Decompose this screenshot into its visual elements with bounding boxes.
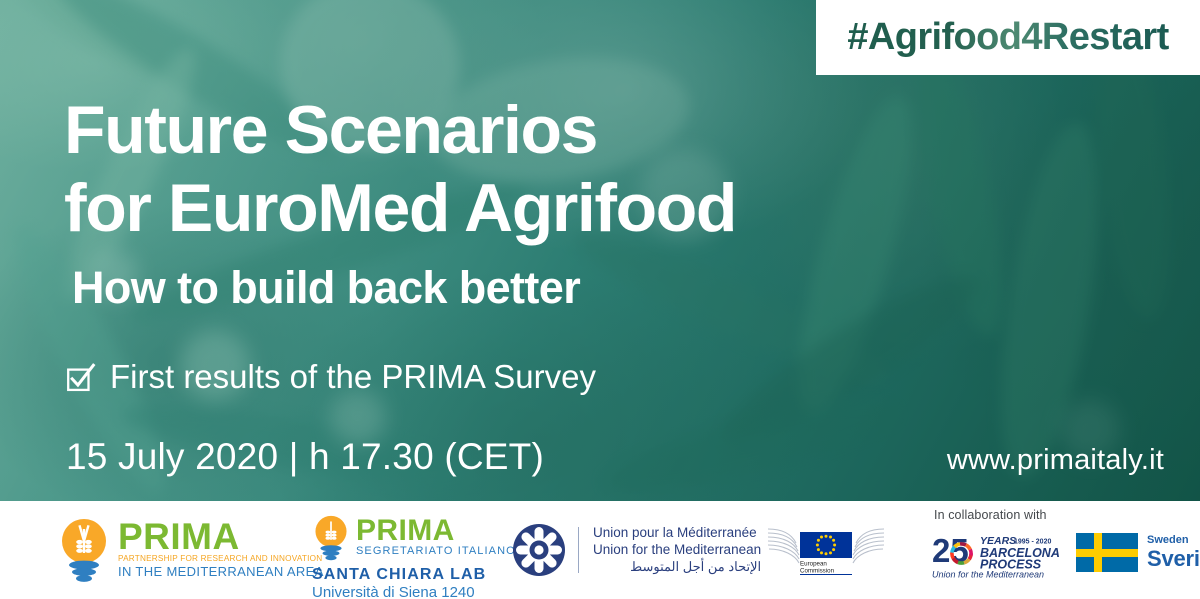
subtitle: How to build back better <box>72 264 1064 312</box>
title-line-1: Future Scenarios <box>64 96 1064 164</box>
prima-tagline: PARTNERSHIP FOR RESEARCH AND INNOVATION <box>118 554 324 564</box>
ufm-line-arabic: الإتحاد من أجل المتوسط <box>593 558 761 575</box>
ec-label-line1: European <box>800 561 827 568</box>
title-line-2: for EuroMed Agrifood <box>64 174 1064 242</box>
logo-union-for-mediterranean: Union pour la Méditerranée Union for the… <box>512 523 761 577</box>
ec-label-line2: Commission <box>800 568 835 575</box>
logo-european-commission: European Commission <box>766 523 886 575</box>
ufm-divider <box>578 527 579 573</box>
logo-prima: PRIMA PARTNERSHIP FOR RESEARCH AND INNOV… <box>58 515 324 583</box>
ufm-line-french: Union pour la Méditerranée <box>593 525 761 542</box>
hashtag-badge: #Agrifood4Restart <box>816 0 1200 75</box>
eu-flag-icon: European Commission <box>766 523 886 575</box>
ufm-emblem-icon <box>512 523 566 577</box>
logo-prima-secretariat: PRIMA SEGRETARIATO ITALIANO SANTA CHIARA… <box>312 513 516 599</box>
collaboration-label: In collaboration with <box>934 508 1047 522</box>
survey-text: First results of the PRIMA Survey <box>110 358 596 396</box>
prima-wordmark: PRIMA <box>118 520 324 554</box>
barcelona-process-icon: 25 YEARS 1995 - 2020 BARCELONA PROCESS <box>932 531 1060 579</box>
logo-sweden: Sweden Sverige <box>1076 533 1200 572</box>
page-title: Future Scenarios for EuroMed Agrifood Ho… <box>64 96 1064 312</box>
logo-barcelona-process: 25 YEARS 1995 - 2020 BARCELONA PROCESS <box>932 531 1060 579</box>
santa-chiara-lab-name: SANTA CHIARA LAB <box>312 565 486 584</box>
prima-area: IN THE MEDITERRANEAN AREA <box>118 564 324 579</box>
checked-box-icon <box>66 363 96 393</box>
lightbulb-wheat-icon <box>312 513 350 561</box>
hashtag-text: #Agrifood4Restart <box>847 16 1168 59</box>
university-name: Università di Siena 1240 <box>312 584 475 599</box>
event-poster: #Agrifood4Restart Future Scenarios for E… <box>0 0 1200 599</box>
sweden-label-sv: Sverige <box>1147 547 1200 571</box>
website-url[interactable]: www.primaitaly.it <box>947 444 1164 477</box>
event-datetime: 15 July 2020 | h 17.30 (CET) <box>66 436 544 478</box>
survey-note: First results of the PRIMA Survey <box>66 358 596 396</box>
barcelona-sub: Union for the Mediterranean <box>932 570 1044 580</box>
barcelona-range: 1995 - 2020 <box>1014 539 1051 546</box>
prima-secretariat-sub: SEGRETARIATO ITALIANO <box>356 545 516 558</box>
sweden-flag-icon <box>1076 533 1138 572</box>
ufm-line-english: Union for the Mediterranean <box>593 542 761 559</box>
lightbulb-wheat-icon <box>58 515 110 583</box>
prima-secretariat-wordmark: PRIMA <box>356 517 516 545</box>
